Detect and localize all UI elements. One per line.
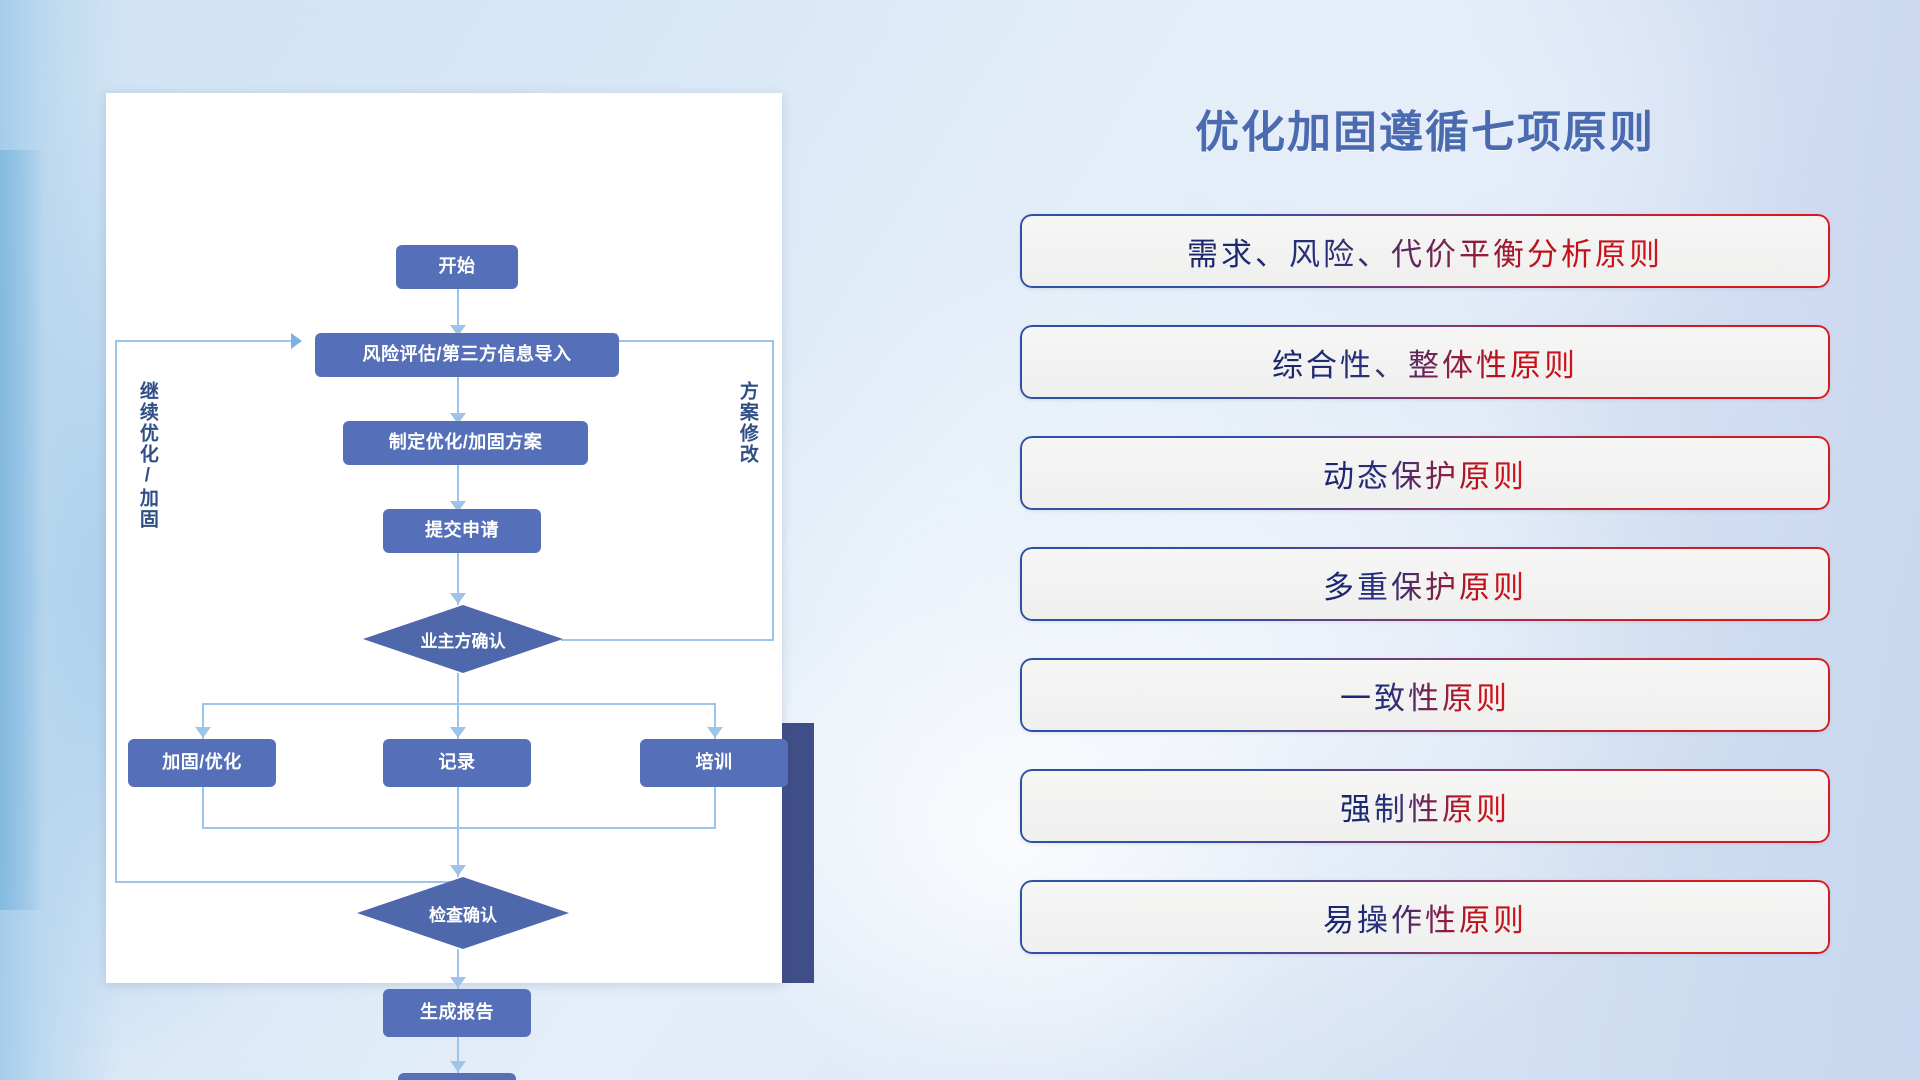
principle-item-7-label: 易操作性原则	[1323, 895, 1527, 940]
edge-reinforce-down	[202, 787, 204, 829]
flow-node-submit-application[interactable]: 提交申请	[383, 509, 541, 553]
principle-item-1[interactable]: 需求、风险、代价平衡分析原则	[1020, 214, 1830, 288]
arrowhead-to-reinforce	[195, 727, 211, 738]
edge-right-loop-vertical	[772, 340, 774, 641]
edge-left-loop-vertical	[115, 340, 117, 883]
edge-label-continue-optimize: 继续优化/加固	[136, 381, 158, 581]
principles-title: 优化加固遵循七项原则	[1020, 96, 1830, 160]
principle-item-3-label: 动态保护原则	[1323, 451, 1527, 496]
principle-item-7[interactable]: 易操作性原则	[1020, 880, 1830, 954]
arrowhead-left-loop-into-plan	[291, 333, 302, 349]
arrowhead-to-record	[450, 727, 466, 738]
principle-item-5[interactable]: 一致性原则	[1020, 658, 1830, 732]
flowchart-card: 开始 风险评估/第三方信息导入 制定优化/加固方案 提交申请 业主方确认 加固/…	[106, 93, 782, 983]
edge-label-plan-revision: 方案修改	[736, 381, 758, 531]
flow-node-generate-report[interactable]: 生成报告	[383, 989, 531, 1037]
edge-right-loop-bottom	[561, 639, 774, 641]
principles-panel: 优化加固遵循七项原则 需求、风险、代价平衡分析原则 综合性、整体性原则 动态保护…	[1020, 96, 1830, 996]
principle-item-5-label: 一致性原则	[1340, 673, 1510, 718]
flowchart-canvas: 开始 风险评估/第三方信息导入 制定优化/加固方案 提交申请 业主方确认 加固/…	[106, 93, 782, 983]
flow-node-reinforce-optimize[interactable]: 加固/优化	[128, 739, 276, 787]
principle-item-4-label: 多重保护原则	[1323, 562, 1527, 607]
arrowhead-to-train	[707, 727, 723, 738]
flow-node-owner-confirm[interactable]: 业主方确认	[363, 605, 563, 673]
principle-item-2[interactable]: 综合性、整体性原则	[1020, 325, 1830, 399]
flow-node-check-confirm-label: 检查确认	[429, 901, 497, 926]
principle-item-1-label: 需求、风险、代价平衡分析原则	[1187, 229, 1663, 274]
arrowhead-check-report	[450, 977, 466, 988]
flow-node-start[interactable]: 开始	[396, 245, 518, 289]
arrowhead-submit-owner	[450, 593, 466, 604]
principle-item-4[interactable]: 多重保护原则	[1020, 547, 1830, 621]
principles-list: 需求、风险、代价平衡分析原则 综合性、整体性原则 动态保护原则 多重保护原则 一…	[1020, 214, 1830, 991]
arrowhead-report-end	[450, 1061, 466, 1072]
flow-node-check-confirm[interactable]: 检查确认	[357, 877, 569, 949]
flow-node-end[interactable]: 结束	[398, 1073, 516, 1080]
edge-record-to-check	[457, 787, 459, 877]
principle-item-6-label: 强制性原则	[1340, 784, 1510, 829]
flowchart-panel: 开始 风险评估/第三方信息导入 制定优化/加固方案 提交申请 业主方确认 加固/…	[106, 93, 794, 983]
arrowhead-to-check	[450, 865, 466, 876]
principle-item-6[interactable]: 强制性原则	[1020, 769, 1830, 843]
principle-item-2-label: 综合性、整体性原则	[1272, 340, 1578, 385]
flow-node-training[interactable]: 培训	[640, 739, 788, 787]
flow-node-risk-assessment[interactable]: 风险评估/第三方信息导入	[315, 333, 619, 377]
edge-left-loop-top	[115, 340, 300, 342]
background-band-left-accent	[0, 150, 46, 910]
flow-node-plan[interactable]: 制定优化/加固方案	[343, 421, 588, 465]
edge-owner-down	[457, 673, 459, 705]
edge-right-loop-top	[616, 340, 774, 342]
principle-item-3[interactable]: 动态保护原则	[1020, 436, 1830, 510]
flow-node-record[interactable]: 记录	[383, 739, 531, 787]
flow-node-owner-confirm-label: 业主方确认	[421, 627, 506, 652]
background-band-left	[0, 0, 120, 1080]
edge-train-down	[714, 787, 716, 829]
